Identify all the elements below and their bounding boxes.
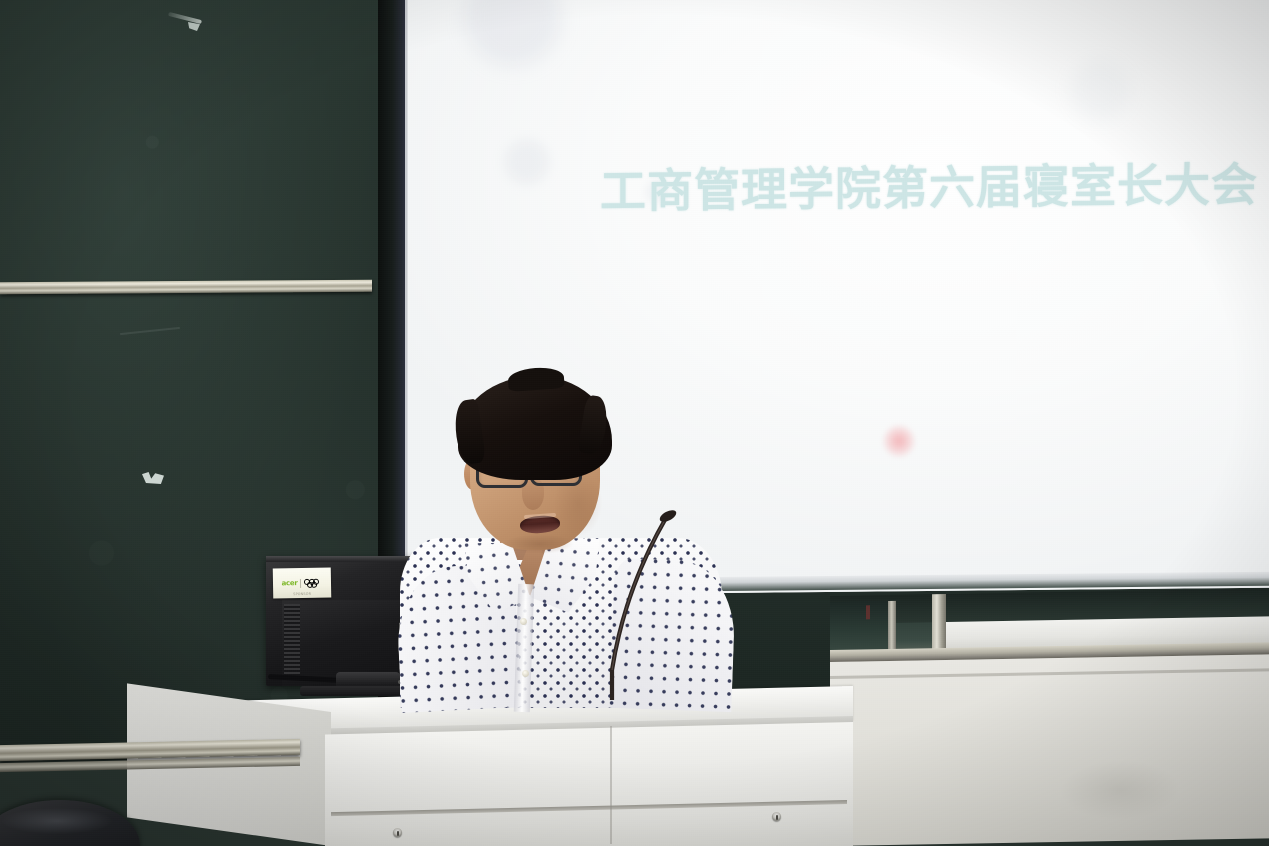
lower-wall — [830, 654, 1269, 846]
shirt-button — [522, 670, 529, 677]
chair-highlight — [2, 808, 112, 834]
acer-sticker: acer SPONSOR — [273, 567, 332, 598]
speaker-person — [404, 370, 734, 700]
window-reflection-spot — [866, 605, 870, 619]
podium-door-divider — [610, 726, 612, 844]
acer-wordmark: acer — [281, 579, 297, 587]
slide-bubble-icon — [1070, 60, 1130, 120]
podium-front-panel — [325, 722, 853, 846]
lecture-hall-photo: 工商管理学院第六届寝室长大会 acer SPONSOR acer SPONSOR — [0, 0, 1269, 846]
wall-smudge — [1060, 759, 1180, 821]
hair-top-tuft — [507, 366, 564, 392]
acer-sticker-subtext: SPONSOR — [273, 591, 331, 596]
monitor-vent — [284, 604, 300, 678]
olympic-rings-icon — [304, 578, 322, 587]
shirt-button — [520, 618, 527, 625]
slide-title: 工商管理学院第六届寝室长大会 — [600, 149, 1240, 222]
podium-lock-icon[interactable] — [772, 812, 781, 821]
podium-lock-icon[interactable] — [393, 828, 402, 837]
sticker-divider — [300, 579, 301, 588]
slide-bubble-icon — [505, 140, 549, 184]
slide-pink-dot-icon — [884, 426, 914, 456]
speaker-chin-shadow — [504, 534, 574, 554]
